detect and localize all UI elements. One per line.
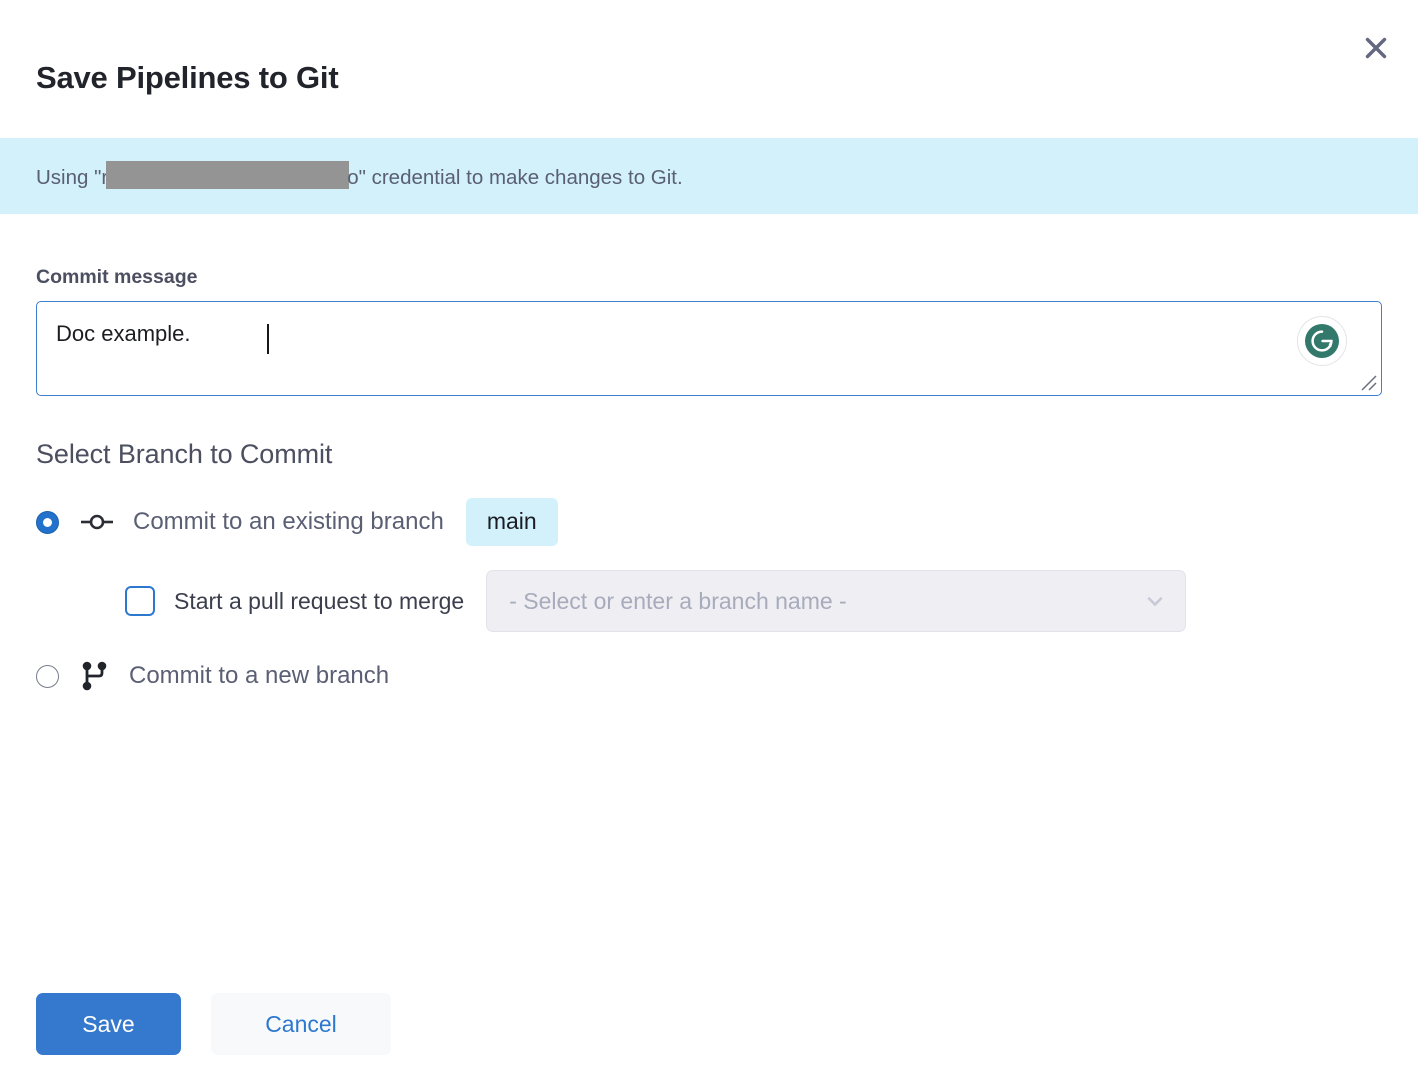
cancel-button[interactable]: Cancel (211, 993, 391, 1055)
close-button[interactable] (1354, 26, 1398, 70)
branch-section-heading: Select Branch to Commit (36, 439, 1418, 470)
commit-message-label: Commit message (36, 266, 1418, 289)
git-branch-icon (80, 660, 110, 692)
banner-text-before: Using "r (36, 166, 108, 189)
git-commit-icon (80, 510, 114, 534)
credential-info-banner: Using "ro" credential to make changes to… (0, 138, 1418, 214)
radio-label-existing-branch[interactable]: Commit to an existing branch (133, 508, 444, 536)
close-icon (1363, 35, 1389, 61)
commit-message-field-wrap (36, 301, 1382, 396)
grammarly-g-icon[interactable] (1297, 316, 1347, 366)
radio-existing-branch[interactable] (36, 511, 59, 534)
pull-request-checkbox[interactable] (125, 586, 155, 616)
redacted-credential-name (106, 161, 349, 189)
credential-info-text: Using "ro" credential to make changes to… (0, 161, 683, 191)
dialog-title: Save Pipelines to Git (0, 0, 1418, 93)
commit-message-input[interactable] (36, 301, 1382, 396)
save-pipelines-dialog: Save Pipelines to Git Using "ro" credent… (0, 0, 1418, 1092)
chevron-down-icon (1143, 589, 1167, 613)
pull-request-row: Start a pull request to merge - Select o… (125, 570, 1418, 632)
save-button[interactable]: Save (36, 993, 181, 1055)
dialog-footer: Save Cancel (36, 993, 391, 1055)
radio-label-new-branch[interactable]: Commit to a new branch (129, 662, 389, 690)
text-cursor (267, 324, 269, 354)
current-branch-chip[interactable]: main (466, 498, 558, 546)
merge-target-branch-value: - Select or enter a branch name - (509, 588, 1143, 615)
radio-row-new-branch[interactable]: Commit to a new branch (36, 660, 1418, 692)
resize-grip-icon[interactable] (1360, 374, 1378, 392)
dialog-body: Commit message Select Branch to Commit (0, 214, 1418, 692)
radio-new-branch[interactable] (36, 665, 59, 688)
banner-text-after: o" credential to make changes to Git. (347, 166, 682, 189)
pull-request-label[interactable]: Start a pull request to merge (174, 588, 464, 615)
merge-target-branch-select[interactable]: - Select or enter a branch name - (486, 570, 1186, 632)
radio-row-existing-branch[interactable]: Commit to an existing branch main (36, 498, 1418, 546)
